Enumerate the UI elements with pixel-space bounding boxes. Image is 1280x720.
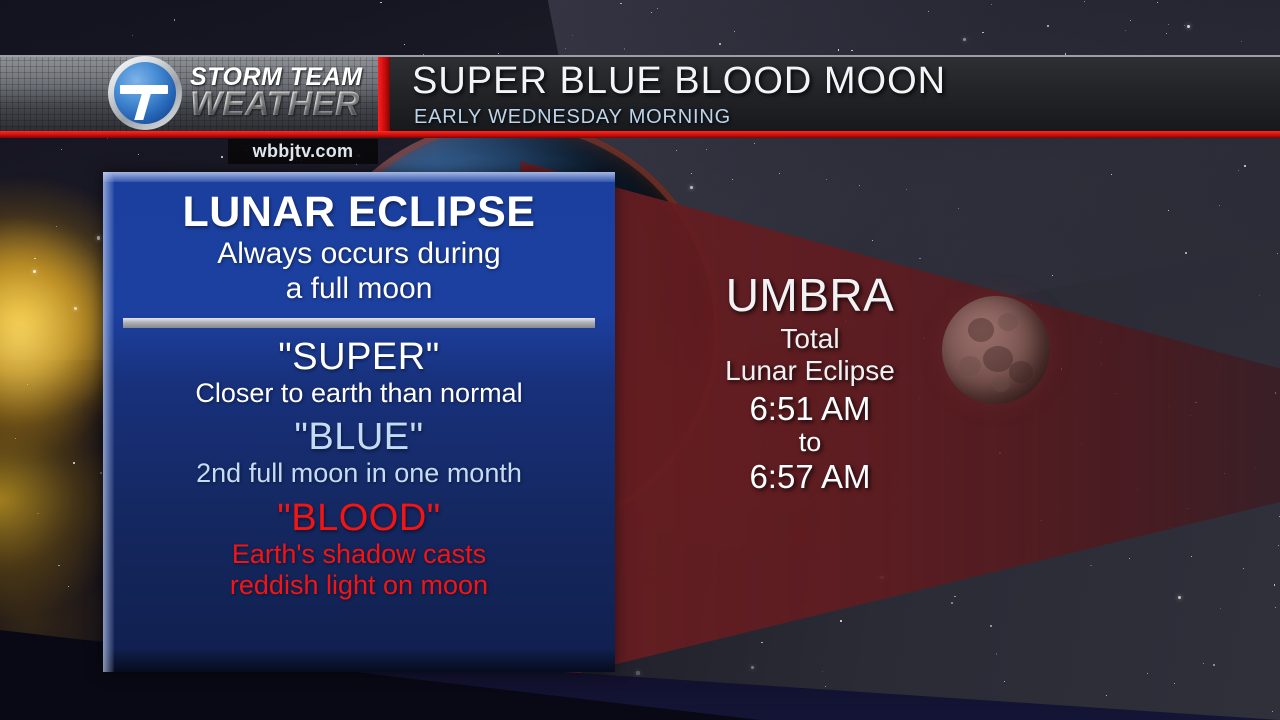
info-panel: LUNAR ECLIPSE Always occurs during a ful… [103,172,615,672]
page-title: SUPER BLUE BLOOD MOON [412,60,946,103]
umbra-time-end: 6:57 AM [660,459,960,496]
term-section-super: "SUPER" Closer to earth than normal [119,338,599,409]
panel-bottom-shade [103,648,615,672]
umbra-caption-1: Total [660,323,960,355]
umbra-time-connector: to [660,428,960,457]
term-label-super: "SUPER" [119,338,599,378]
weather-graphic-stage: STORM TEAM WEATHER SUPER BLUE BLOOD MOON… [0,0,1280,720]
term-desc-blood-2: reddish light on moon [119,571,599,601]
umbra-annotation: UMBRA Total Lunar Eclipse 6:51 AM to 6:5… [660,272,960,496]
website-tag: wbbjtv.com [228,139,378,164]
page-subtitle: EARLY WEDNESDAY MORNING [414,106,731,129]
umbra-label: UMBRA [660,272,960,319]
panel-headline-sub-2: a full moon [119,272,599,306]
term-desc-blue: 2nd full moon in one month [119,459,599,489]
header-red-underline [0,131,1280,138]
info-panel-content: LUNAR ECLIPSE Always occurs during a ful… [103,172,615,600]
panel-headline-sub-1: Always occurs during [119,237,599,271]
term-desc-blood-1: Earth's shadow casts [119,540,599,570]
term-label-blood: "BLOOD" [119,499,599,539]
umbra-time-start: 6:51 AM [660,391,960,428]
station-logo[interactable]: STORM TEAM WEATHER [108,56,363,130]
term-desc-super: Closer to earth than normal [119,379,599,409]
umbra-caption-2: Lunar Eclipse [660,355,960,387]
logo-wordmark: STORM TEAM WEATHER [190,66,363,121]
term-section-blue: "BLUE" 2nd full moon in one month [119,418,599,489]
logo-globe [114,62,176,124]
panel-divider [123,318,595,328]
channel-seven-icon [108,56,182,130]
website-url: wbbjtv.com [253,141,354,162]
logo-line-2: WEATHER [190,89,363,121]
header-red-divider [378,57,390,133]
panel-headline: LUNAR ECLIPSE [119,190,599,235]
term-section-blood: "BLOOD" Earth's shadow casts reddish lig… [119,499,599,600]
term-label-blue: "BLUE" [119,418,599,458]
seven-glyph [114,62,176,124]
